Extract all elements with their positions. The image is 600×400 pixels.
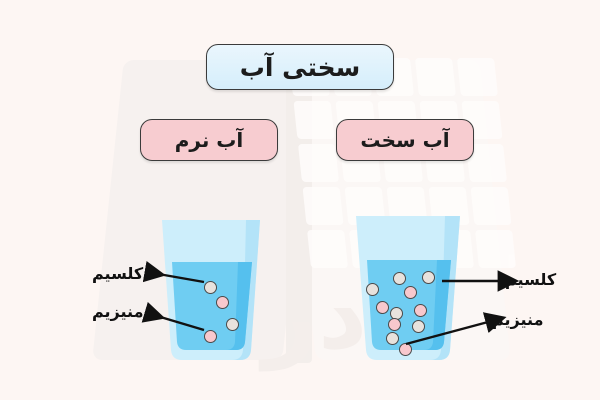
particle-magnesium <box>388 318 401 331</box>
particle-calcium <box>226 318 239 331</box>
particle-calcium <box>204 281 217 294</box>
label-soft-water: آب نرم <box>140 119 278 161</box>
watermark-book-spine <box>286 58 312 363</box>
glass-hard-water <box>352 212 464 364</box>
annotation-hard-magnesium-label: منیزیم <box>492 310 543 329</box>
particle-calcium <box>386 332 399 345</box>
particle-magnesium <box>204 330 217 343</box>
label-hard-water: آب سخت <box>336 119 474 161</box>
particle-magnesium <box>414 304 427 317</box>
particle-calcium <box>366 283 379 296</box>
particle-calcium <box>393 272 406 285</box>
annotation-hard-calcium-label: کلسیم <box>505 270 556 289</box>
page-title: سختی آب <box>206 44 394 90</box>
particle-magnesium <box>216 296 229 309</box>
particle-magnesium <box>404 286 417 299</box>
particle-calcium <box>422 271 435 284</box>
particle-magnesium <box>376 301 389 314</box>
annotation-soft-magnesium-label: منیزیم <box>92 302 143 321</box>
glass-soft-water <box>158 216 264 364</box>
annotation-soft-calcium-label: کلسیم <box>92 264 143 283</box>
infographic-canvas: در سختی آب آب نرم آب سخت <box>0 0 600 400</box>
particle-magnesium <box>399 343 412 356</box>
particle-calcium <box>412 320 425 333</box>
